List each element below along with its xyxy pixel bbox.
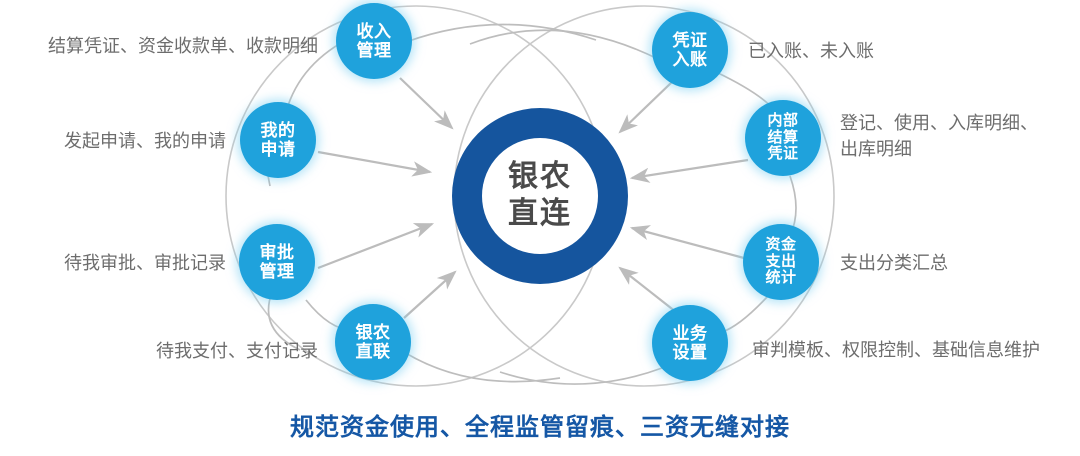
- note-bank-farm-direct: 待我支付、支付记录: [8, 338, 318, 364]
- node-income-management[interactable]: 收入 管理: [336, 3, 412, 79]
- note-income-management-line1: 结算凭证、资金收款单、收款明细: [8, 33, 318, 59]
- center-hub-inner: 银农 直连: [482, 138, 598, 254]
- node-approval-management-line2: 管理: [260, 262, 295, 281]
- note-business-settings-line1: 审判模板、权限控制、基础信息维护: [752, 337, 1040, 363]
- node-my-application[interactable]: 我的 申请: [240, 102, 316, 178]
- node-income-management-line2: 管理: [357, 41, 392, 60]
- node-my-application-line1: 我的: [261, 121, 296, 140]
- note-internal-settlement-line2: 出库明细: [840, 136, 1038, 162]
- note-approval-management: 待我审批、审批记录: [8, 250, 226, 276]
- node-business-settings-line2: 设置: [673, 343, 708, 362]
- node-income-management-line1: 收入: [357, 22, 392, 41]
- note-approval-management-line1: 待我审批、审批记录: [8, 250, 226, 276]
- node-approval-management[interactable]: 审批 管理: [239, 224, 315, 300]
- node-internal-settlement-line2: 结算: [767, 130, 798, 147]
- node-voucher-entry[interactable]: 凭证 入账: [652, 12, 728, 88]
- note-fund-expense-stats-line1: 支出分类汇总: [840, 250, 948, 276]
- node-fund-expense-stats-line1: 资金: [765, 237, 796, 254]
- node-fund-expense-stats-line3: 统计: [765, 270, 796, 287]
- node-approval-management-line1: 审批: [260, 243, 295, 262]
- node-bank-farm-direct-line2: 直联: [356, 342, 391, 361]
- note-income-management: 结算凭证、资金收款单、收款明细: [8, 33, 318, 59]
- note-voucher-entry-line1: 已入账、未入账: [748, 38, 874, 64]
- note-internal-settlement-line1: 登记、使用、入库明细、: [840, 110, 1038, 136]
- node-internal-settlement-line3: 凭证: [767, 146, 798, 163]
- note-fund-expense-stats: 支出分类汇总: [840, 250, 948, 276]
- node-fund-expense-stats[interactable]: 资金 支出 统计: [743, 224, 819, 300]
- node-internal-settlement-line1: 内部: [767, 113, 798, 130]
- center-hub-line1: 银农: [508, 159, 572, 196]
- center-hub: 银农 直连: [452, 108, 628, 284]
- note-bank-farm-direct-line1: 待我支付、支付记录: [8, 338, 318, 364]
- node-bank-farm-direct[interactable]: 银农 直联: [335, 304, 411, 380]
- diagram-caption: 规范资金使用、全程监管留痕、三资无缝对接: [0, 407, 1080, 442]
- note-business-settings: 审判模板、权限控制、基础信息维护: [752, 337, 1040, 363]
- note-my-application-line1: 发起申请、我的申请: [8, 128, 226, 154]
- node-business-settings-line1: 业务: [673, 324, 708, 343]
- node-voucher-entry-line2: 入账: [673, 50, 708, 69]
- node-business-settings[interactable]: 业务 设置: [652, 305, 728, 381]
- note-voucher-entry: 已入账、未入账: [748, 38, 874, 64]
- node-internal-settlement[interactable]: 内部 结算 凭证: [745, 100, 821, 176]
- diagram-canvas: 银农 直连 收入 管理 我的 申请 审批 管理 银农 直联 凭证 入账 内部 结…: [0, 0, 1080, 456]
- node-bank-farm-direct-line1: 银农: [356, 323, 391, 342]
- center-hub-line2: 直连: [508, 196, 572, 233]
- node-fund-expense-stats-line2: 支出: [765, 254, 796, 271]
- node-my-application-line2: 申请: [261, 140, 296, 159]
- node-voucher-entry-line1: 凭证: [673, 31, 708, 50]
- note-internal-settlement: 登记、使用、入库明细、 出库明细: [840, 110, 1038, 162]
- note-my-application: 发起申请、我的申请: [8, 128, 226, 154]
